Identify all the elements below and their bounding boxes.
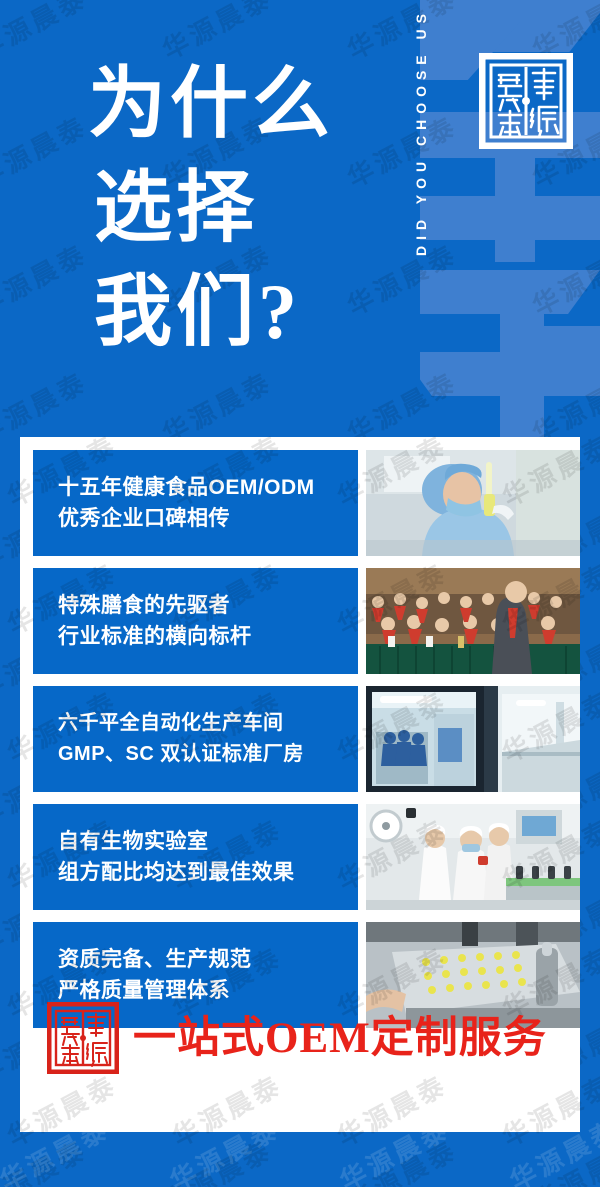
headline: 为什么 选择 我们?	[88, 52, 388, 364]
vertical-tagline-text: DID YOU CHOOSE US	[414, 8, 428, 256]
feature-line-2: GMP、SC 双认证标准厂房	[58, 739, 358, 770]
feature-row: 自有生物实验室 组方配比均达到最佳效果	[33, 804, 580, 910]
feature-line-1: 特殊膳食的先驱者	[58, 590, 358, 621]
feature-card[interactable]: 六千平全自动化生产车间 GMP、SC 双认证标准厂房	[33, 686, 358, 792]
feature-card[interactable]: 自有生物实验室 组方配比均达到最佳效果	[33, 804, 358, 910]
feature-line-1: 资质完备、生产规范	[58, 944, 358, 975]
feature-row: 六千平全自动化生产车间 GMP、SC 双认证标准厂房	[33, 686, 580, 792]
feature-line-1: 自有生物实验室	[58, 826, 358, 857]
feature-line-2: 行业标准的横向标杆	[58, 621, 358, 652]
feature-card[interactable]: 十五年健康食品OEM/ODM 优秀企业口碑相传	[33, 450, 358, 556]
feature-row: 十五年健康食品OEM/ODM 优秀企业口碑相传	[33, 450, 580, 556]
headline-line-1: 为什么	[88, 52, 388, 156]
feature-photo-production-line	[366, 804, 580, 910]
cta-banner-text: 一站式OEM定制服务	[133, 1017, 547, 1060]
company-seal-logo-red	[47, 1002, 119, 1074]
feature-row: 特殊膳食的先驱者 行业标准的横向标杆	[33, 568, 580, 674]
feature-photo-cleanroom	[366, 686, 580, 792]
feature-card[interactable]: 特殊膳食的先驱者 行业标准的横向标杆	[33, 568, 358, 674]
feature-photo-conference-hall	[366, 568, 580, 674]
company-seal-logo-white	[479, 53, 573, 149]
feature-line-2: 优秀企业口碑相传	[58, 503, 358, 534]
feature-line-1: 十五年健康食品OEM/ODM	[58, 472, 358, 503]
poster-root: 华源晨泰 华源晨泰 华源晨泰 华源晨泰 华源晨泰 华源晨泰 华源晨泰 华源晨泰 …	[0, 0, 600, 1187]
headline-line-3: 我们?	[88, 260, 388, 364]
cta-banner: 一站式OEM定制服务	[33, 1000, 580, 1076]
features-panel: 十五年健康食品OEM/ODM 优秀企业口碑相传	[20, 437, 580, 1132]
vertical-tagline: DID YOU CHOOSE US	[404, 8, 438, 400]
feature-photo-lab-technician	[366, 450, 580, 556]
headline-line-2: 选择	[88, 156, 388, 260]
feature-line-2: 组方配比均达到最佳效果	[58, 857, 358, 888]
feature-line-1: 六千平全自动化生产车间	[58, 708, 358, 739]
features-list: 十五年健康食品OEM/ODM 优秀企业口碑相传	[33, 450, 580, 1028]
